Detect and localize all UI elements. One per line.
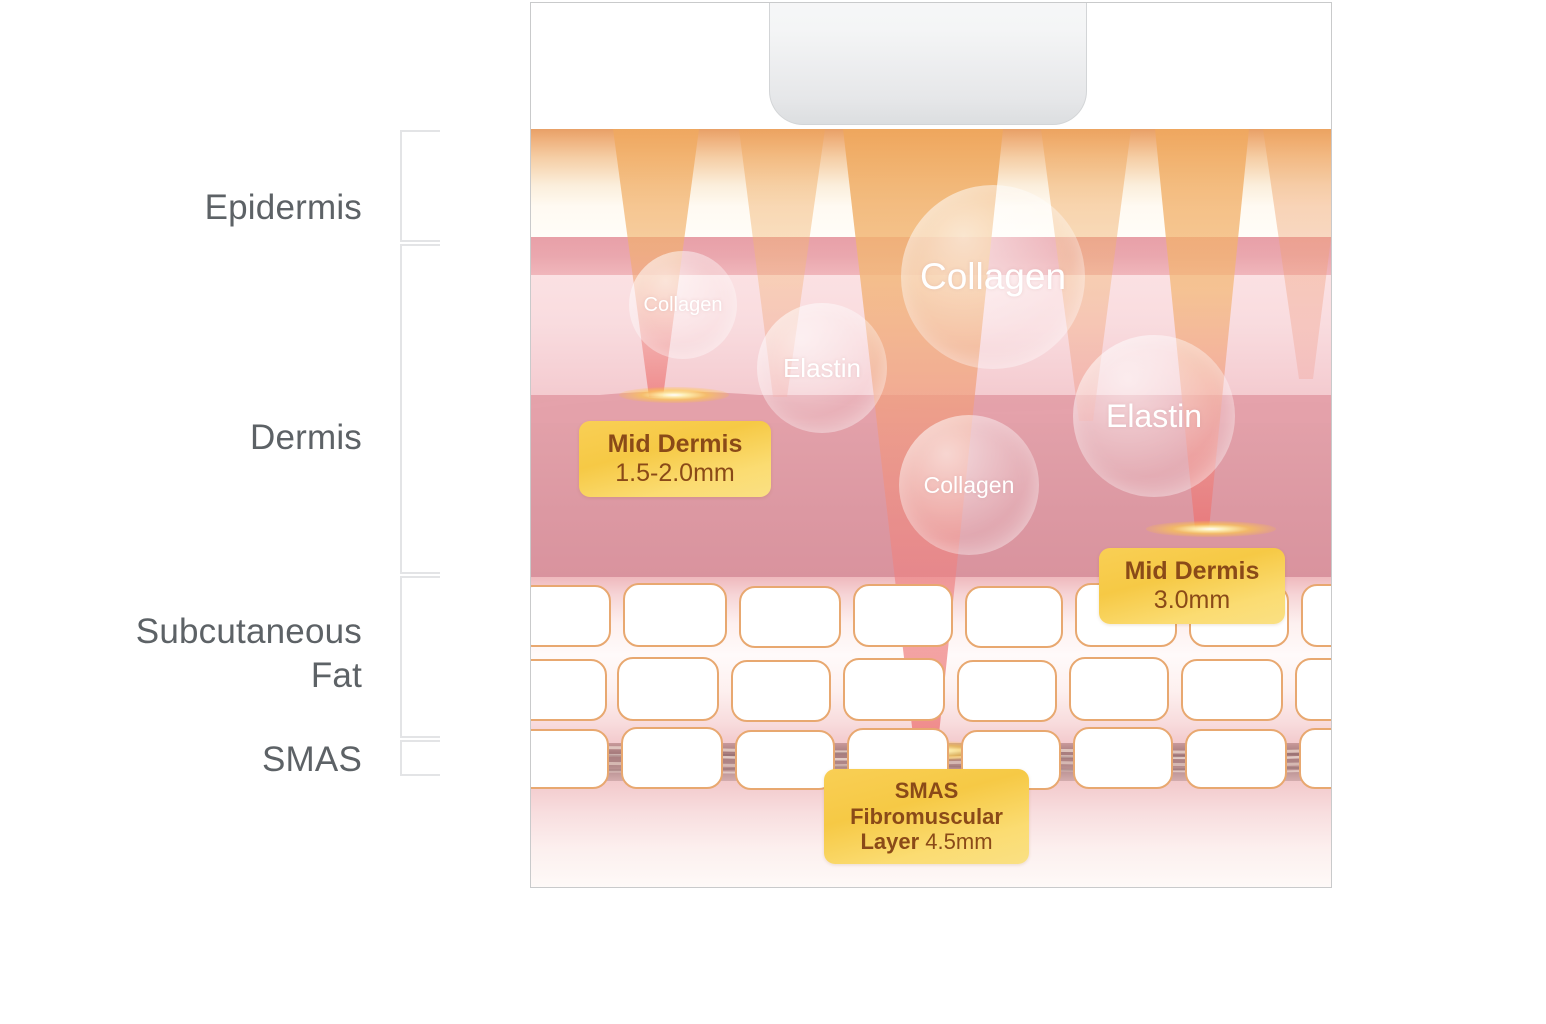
callout-title: Mid Dermis: [593, 430, 757, 459]
fat-cell: [617, 657, 719, 721]
fat-cell: [1073, 727, 1173, 789]
callout-title: Mid Dermis: [1113, 557, 1271, 586]
fat-cell: [1181, 659, 1283, 721]
callout-depth: 1.5-2.0mm: [593, 459, 757, 488]
fat-cell: [531, 659, 607, 721]
fat-cell: [1301, 584, 1331, 647]
fat-cell: [853, 584, 953, 647]
callout-mid-dermis-shallow: Mid Dermis 1.5-2.0mm: [579, 421, 771, 497]
bubble-label: Collagen: [920, 256, 1066, 298]
fat-cell: [1185, 729, 1287, 789]
fat-cell: [531, 585, 611, 647]
bracket-smas: [400, 740, 442, 776]
bubble-collagen-mid: Collagen: [899, 415, 1039, 555]
bubble-collagen-large: Collagen: [901, 185, 1085, 369]
fat-cell: [965, 586, 1063, 648]
legend-label-epidermis: Epidermis: [205, 186, 362, 230]
layer-legend: Epidermis Dermis Subcutaneous Fat SMAS: [0, 0, 530, 1024]
callout-depth-bold: Layer: [860, 829, 919, 854]
callout-subtitle: Fibromuscular: [838, 804, 1015, 830]
fat-cell: [957, 660, 1057, 722]
legend-label-dermis: Dermis: [250, 416, 362, 460]
callout-depth: 3.0mm: [1113, 586, 1271, 615]
bracket-epidermis: [400, 130, 442, 242]
bubble-elastin-right: Elastin: [1073, 335, 1235, 497]
callout-depth-line: Layer 4.5mm: [838, 829, 1015, 855]
bubble-label: Elastin: [1106, 398, 1202, 435]
bubble-label: Elastin: [783, 353, 861, 384]
bubble-collagen-small-left: Collagen: [629, 251, 737, 359]
bubble-label: Collagen: [924, 472, 1015, 499]
fat-cell: [531, 729, 609, 789]
callout-depth-value: 4.5mm: [919, 829, 992, 854]
ultrasound-transducer-device[interactable]: [769, 3, 1087, 125]
fat-cell: [1295, 658, 1331, 721]
fat-cell: [735, 730, 835, 790]
legend-label-subcutaneous-fat: Subcutaneous Fat: [136, 610, 362, 698]
fat-cell: [1299, 728, 1331, 789]
bubble-elastin-mid: Elastin: [757, 303, 887, 433]
focus-glow-shallow-right: [1146, 521, 1276, 537]
fat-cell: [843, 658, 945, 721]
bracket-dermis: [400, 244, 442, 574]
skin-cross-section-diagram: Collagen Elastin Collagen Collagen Elast…: [530, 2, 1332, 888]
bracket-subcutaneous-fat: [400, 576, 442, 738]
fat-cell: [623, 583, 727, 647]
callout-smas-layer: SMAS Fibromuscular Layer 4.5mm: [824, 769, 1029, 864]
fat-cell: [1069, 657, 1169, 721]
focus-glow-shallow-left: [619, 387, 729, 403]
ultrasound-beam-far-right: [1249, 129, 1331, 379]
legend-label-smas: SMAS: [262, 738, 362, 782]
fat-cell: [621, 727, 723, 789]
fat-cell: [731, 660, 831, 722]
fat-cell: [739, 586, 841, 648]
callout-title: SMAS: [838, 778, 1015, 804]
callout-mid-dermis-deep: Mid Dermis 3.0mm: [1099, 548, 1285, 624]
bubble-label: Collagen: [644, 294, 723, 317]
